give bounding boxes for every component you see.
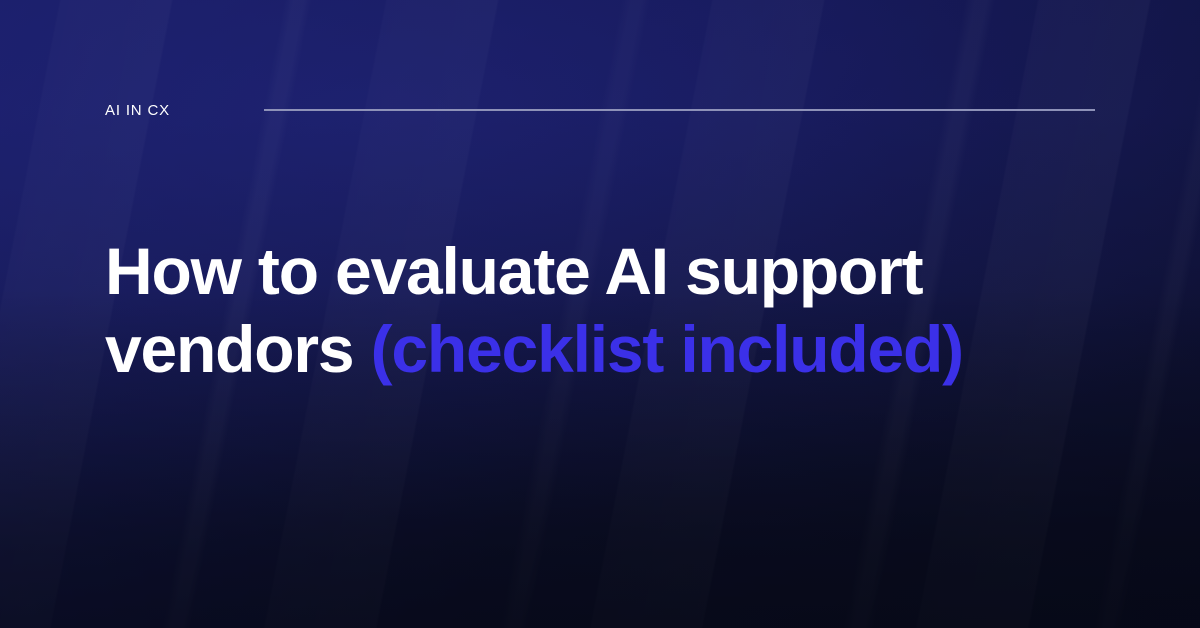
headline-line-2-accent: (checklist included)	[371, 312, 963, 386]
category-label: AI IN CX	[105, 103, 170, 118]
divider-rule	[264, 109, 1095, 111]
headline-line-1: How to evaluate AI support	[105, 234, 922, 308]
social-card: AI IN CX How to evaluate AI support vend…	[0, 0, 1200, 628]
eyebrow-row: AI IN CX	[105, 99, 1095, 121]
page-title: How to evaluate AI support vendors (chec…	[105, 232, 1065, 388]
card-content: AI IN CX How to evaluate AI support vend…	[0, 0, 1200, 628]
headline-line-2-plain: vendors	[105, 312, 371, 386]
